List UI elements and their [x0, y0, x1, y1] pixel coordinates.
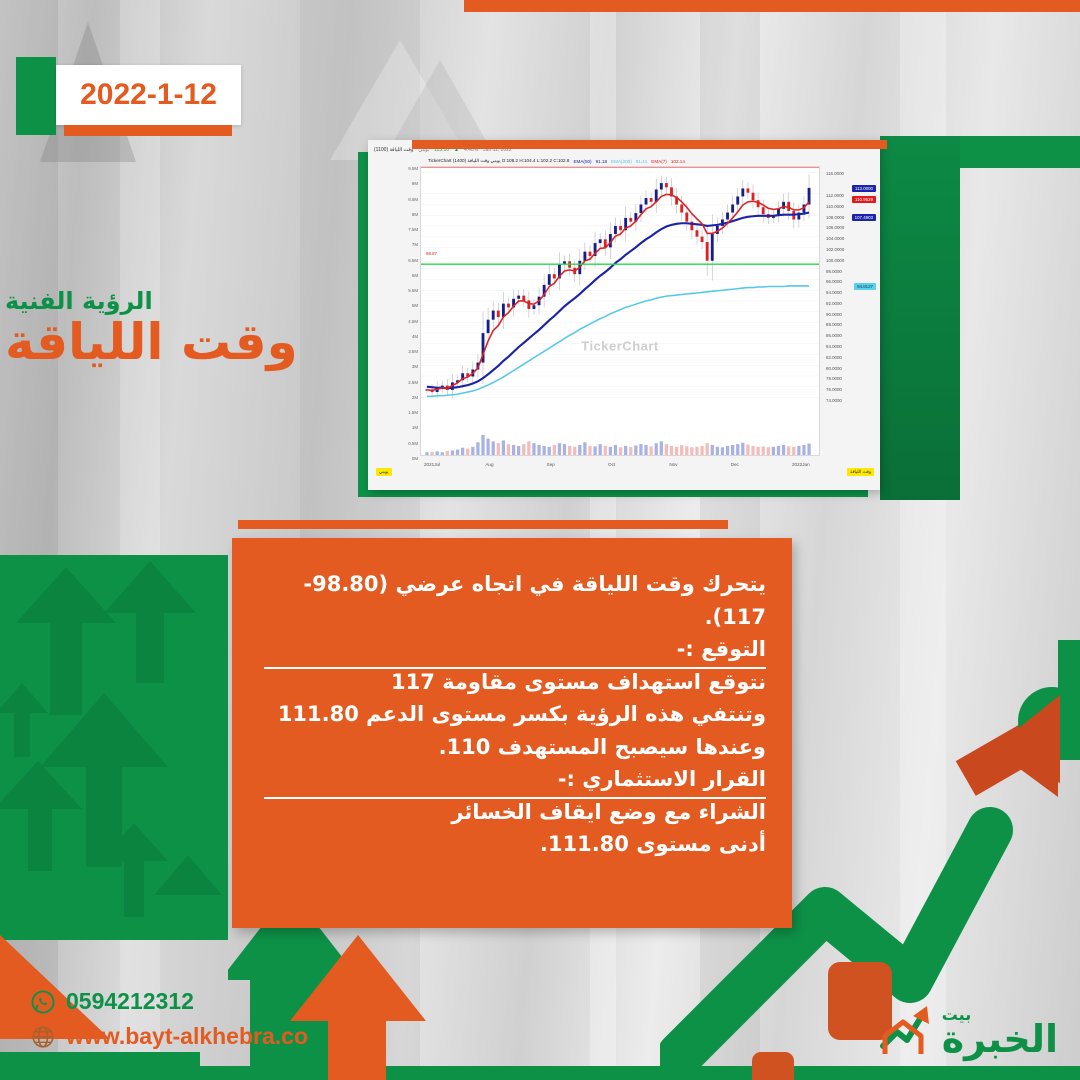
volume-tick: 5.5M: [408, 288, 418, 293]
whatsapp-row[interactable]: 0594212312: [30, 988, 308, 1015]
volume-tick: 9.5M: [408, 166, 418, 171]
price-tag-cyan: 94.8127: [854, 283, 876, 290]
volume-tick: 8M: [412, 212, 418, 217]
chart-ema50-value: 91.18: [596, 159, 608, 164]
price-tick: 116.0000: [826, 171, 844, 176]
volume-tick: 2.5M: [408, 380, 418, 385]
volume-tick: 9M: [412, 181, 418, 186]
headline-group: الرؤية الفنية وقت اللياقة: [5, 288, 325, 369]
price-tag-blue: 107.4903: [852, 214, 876, 221]
price-tick: 78.0000: [826, 376, 842, 381]
volume-tick: 6.5M: [408, 258, 418, 263]
logo-main-word: الخبرة: [942, 1020, 1058, 1058]
chart-right-green-panel: [880, 136, 960, 500]
date-tick: 2022Jan: [792, 462, 810, 467]
price-tick: 88.0000: [826, 322, 842, 327]
price-tick: 82.0000: [826, 355, 842, 360]
price-tick: 104.0000: [826, 236, 844, 241]
price-tick: 98.0000: [826, 269, 842, 274]
price-tick: 94.0000: [826, 290, 842, 295]
chart-volume-axis: 9.5M9M8.5M8M7.5M7M6.5M6M5.5M5M4.5M4M3.5M…: [374, 166, 420, 456]
website-url: www.bayt-alkhebra.co: [66, 1023, 308, 1050]
text-panel-top-bar: [238, 520, 728, 529]
price-tick: 106.0000: [826, 225, 844, 230]
date-text: 2022-1-12: [80, 78, 217, 112]
decision-line-1: الشراء مع وضع ايقاف الخسائر: [258, 796, 766, 829]
price-tick: 110.0000: [826, 204, 844, 209]
price-tag-blue: 113.0000: [852, 185, 876, 192]
price-tick: 76.0000: [826, 387, 842, 392]
chart-top-orange-bar: [412, 140, 887, 149]
date-tick: Aug: [485, 462, 493, 467]
chart-ema200-label: EMA(200): [611, 159, 632, 164]
phone-number: 0594212312: [66, 988, 194, 1015]
volume-tick: 5M: [412, 303, 418, 308]
poster-canvas: 2022-1-12 الرؤية الفنية وقت اللياقة وقت …: [0, 0, 1080, 1080]
price-tick: 108.0000: [826, 215, 844, 220]
chart-date-axis: 2021JulAugSepOctNovDec2022Jan: [420, 462, 820, 474]
price-tag-red: 110.9629: [852, 196, 876, 203]
headline-subtitle: الرؤية الفنية: [5, 288, 325, 314]
volume-tick: 4M: [412, 334, 418, 339]
globe-icon: [30, 1024, 56, 1050]
price-tick: 96.0000: [826, 279, 842, 284]
headline-title: وقت اللياقة: [5, 316, 325, 369]
price-tick: 92.0000: [826, 301, 842, 306]
top-orange-bar: [464, 0, 1080, 12]
chart-watermark: TickerChart: [581, 338, 659, 353]
date-tick: 2021Jul: [424, 462, 440, 467]
date-underline-bar: [64, 125, 232, 136]
forecast-line-2: وتنتفي هذه الرؤية بكسر مستوى الدعم 111.8…: [258, 698, 766, 731]
logo-text-group: بيت الخبرة: [942, 1007, 1058, 1058]
chart-container[interactable]: وقت اللياقة (1100) يومي 113.10 ▲ 4.40% J…: [368, 140, 880, 490]
volume-tick: 8.5M: [408, 197, 418, 202]
decision-line-2: أدنى مستوى 111.80.: [258, 828, 766, 861]
forecast-header: التوقع :-: [258, 633, 766, 666]
date-tick: Dec: [731, 462, 739, 467]
volume-tick: 6M: [412, 273, 418, 278]
volume-tick: 7M: [412, 242, 418, 247]
volume-tick: 1.5M: [408, 410, 418, 415]
chart-ema7-value: 102.14: [671, 159, 685, 164]
date-tick: Oct: [608, 462, 615, 467]
chart-plot-area[interactable]: TickerChart 98.87: [420, 166, 820, 456]
chart-svg: [421, 167, 819, 455]
price-tick: 80.0000: [826, 366, 842, 371]
brand-logo[interactable]: بيت الخبرة: [877, 1000, 1058, 1058]
volume-tick: 0.5M: [408, 441, 418, 446]
left-green-arrow-panel: [0, 555, 228, 955]
decision-header: القرار الاستثماري :-: [258, 763, 766, 796]
price-tick: 112.0000: [826, 193, 844, 198]
volume-tick: 0M: [412, 456, 418, 461]
price-tick: 102.0000: [826, 247, 844, 252]
volume-tick: 7.5M: [408, 227, 418, 232]
volume-tick: 4.5M: [408, 319, 418, 324]
date-green-accent: [16, 57, 56, 135]
date-tick: Nov: [669, 462, 677, 467]
bottom-orange-arrow: [290, 935, 470, 1080]
analysis-text-panel: يتحرك وقت اللياقة في اتجاه عرضي (98.80-1…: [232, 538, 792, 928]
date-tick: Sep: [547, 462, 555, 467]
whatsapp-icon: [30, 989, 56, 1015]
volume-tick: 3M: [412, 364, 418, 369]
price-tick: 90.0000: [826, 312, 842, 317]
volume-tick: 1M: [412, 425, 418, 430]
house-arrow-icon: [877, 1000, 939, 1058]
volume-tick: 2M: [412, 395, 418, 400]
price-tick: 86.0000: [826, 333, 842, 338]
price-tick: 100.0000: [826, 258, 844, 263]
volume-tick: 3.5M: [408, 349, 418, 354]
chart-ema7-label: EMA(7): [651, 159, 667, 164]
chart-xtag-left: يومي: [376, 468, 392, 476]
website-row[interactable]: www.bayt-alkhebra.co: [30, 1023, 308, 1050]
chart-symbol: وقت اللياقة (1100): [374, 147, 413, 153]
forecast-line-3: وعندها سيصبح المستهدف 110.: [258, 731, 766, 764]
chart-support-label: 98.87: [423, 250, 440, 257]
forecast-line-1: نتوقع استهداف مستوى مقاومة 117: [258, 666, 766, 699]
chart-ema50-label: EMA(50): [573, 159, 591, 164]
chart-ohlc-text: TickerChart يومي وقت اللياقة (1400) O:10…: [428, 158, 569, 164]
chart-xtag-right: وقت اللياقة: [847, 468, 874, 476]
date-badge: 2022-1-12: [56, 65, 241, 125]
chart-price-axis: 116.0000112.0000110.0000108.0000106.0000…: [822, 166, 878, 456]
price-tick: 84.0000: [826, 344, 842, 349]
analysis-summary: يتحرك وقت اللياقة في اتجاه عرضي (98.80-1…: [258, 568, 766, 633]
chart-ema200-value: 81.41: [636, 159, 648, 164]
contact-block: 0594212312 www.bayt-alkhebra.co: [30, 988, 308, 1058]
orange-rounded-square-small: [752, 1052, 794, 1080]
price-tick: 74.0000: [826, 398, 842, 403]
chart-ohlc-line: TickerChart يومي وقت اللياقة (1400) O:10…: [428, 156, 820, 166]
